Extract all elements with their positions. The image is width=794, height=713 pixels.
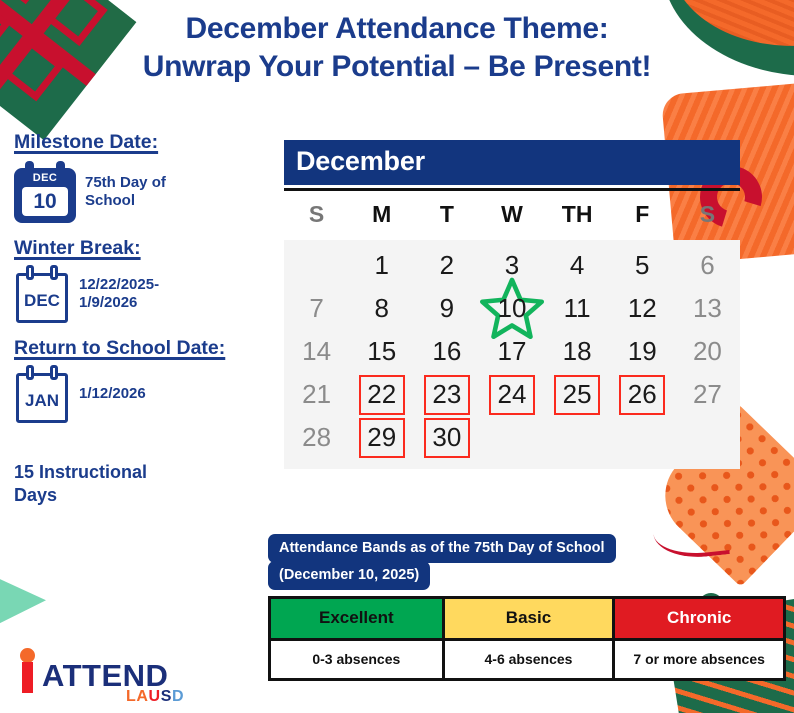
calendar-date-number: 30	[424, 418, 470, 458]
calendar-date-number: 10	[498, 293, 527, 324]
page-title-line-1: December Attendance Theme:	[186, 12, 609, 45]
sidebar: Milestone Date: DEC 10 75th Day of Schoo…	[14, 131, 276, 506]
logo-i-stem-icon	[22, 662, 33, 693]
milestone-date-text: 75th Day of School	[85, 174, 207, 210]
winter-break-text: 12/22/2025-1/9/2026	[79, 276, 215, 312]
calendar-date-cell[interactable]: 30	[414, 416, 479, 459]
milestone-date-row: DEC 10 75th Day of School	[14, 161, 276, 223]
calendar-icon-month-jan: JAN	[16, 391, 68, 411]
logo-lausd-letter: L	[126, 688, 136, 705]
calendar-date-cell[interactable]: 22	[349, 373, 414, 416]
logo-lausd-letter: D	[172, 688, 184, 705]
calendar-date-cell[interactable]: 19	[610, 330, 675, 373]
instructional-days-text: 15 Instructional Days	[14, 461, 184, 506]
calendar-day-header: W	[479, 201, 544, 228]
calendar-date-number: 20	[693, 336, 722, 367]
logo-i-dot-icon	[20, 648, 35, 663]
calendar-date-cell[interactable]: 5	[610, 244, 675, 287]
calendar-date-cell[interactable]: 12	[610, 287, 675, 330]
calendar-date-cell[interactable]: 21	[284, 373, 349, 416]
calendar-day-header: S	[675, 201, 740, 228]
attendance-band-value: 0-3 absences	[271, 641, 442, 678]
winter-break-heading: Winter Break:	[14, 237, 276, 260]
calendar-empty-cell	[479, 416, 544, 459]
calendar-date-cell[interactable]: 2	[414, 244, 479, 287]
logo-lausd-letter: A	[136, 688, 148, 705]
calendar-date-number: 25	[554, 375, 600, 415]
calendar-date-number: 27	[693, 379, 722, 410]
attendance-band-value: 7 or more absences	[612, 641, 783, 678]
calendar-date-cell[interactable]: 20	[675, 330, 740, 373]
december-calendar: December SMTWTHFS 1234567891011121314151…	[284, 140, 740, 469]
calendar-month-icon-dec: DEC	[14, 265, 70, 323]
calendar-icon-month: DEC	[14, 172, 76, 184]
calendar-date-cell[interactable]: 11	[545, 287, 610, 330]
calendar-date-cell[interactable]: 4	[545, 244, 610, 287]
calendar-empty-cell	[675, 416, 740, 459]
logo-lausd-letter: S	[161, 688, 172, 705]
calendar-date-number: 29	[359, 418, 405, 458]
calendar-date-cell[interactable]: 7	[284, 287, 349, 330]
calendar-empty-cell	[545, 416, 610, 459]
calendar-date-number: 23	[424, 375, 470, 415]
attendance-bands-banner: Attendance Bands as of the 75th Day of S…	[268, 534, 616, 590]
mint-triangle-decoration-left	[0, 558, 46, 646]
calendar-day-header: F	[610, 201, 675, 228]
calendar-date-cell[interactable]: 26	[610, 373, 675, 416]
page-title-line-2: Unwrap Your Potential – Be Present!	[0, 48, 794, 86]
attendance-bands-table: ExcellentBasicChronic0-3 absences4-6 abs…	[268, 596, 786, 681]
attendance-band-header: Excellent	[271, 599, 442, 641]
calendar-date-number: 9	[440, 293, 454, 324]
return-to-school-text: 1/12/2026	[79, 385, 146, 403]
calendar-day-header: TH	[545, 201, 610, 228]
calendar-date-number: 24	[489, 375, 535, 415]
calendar-date-number: 2	[440, 250, 454, 281]
page-title: December Attendance Theme: Unwrap Your P…	[0, 10, 794, 86]
attendance-band-header: Chronic	[612, 599, 783, 641]
calendar-date-number: 6	[700, 250, 714, 281]
calendar-date-cell[interactable]: 25	[545, 373, 610, 416]
calendar-date-number: 21	[302, 379, 331, 410]
calendar-day-header: T	[414, 201, 479, 228]
logo-lausd-letter: U	[149, 688, 161, 705]
calendar-date-number: 15	[367, 336, 396, 367]
winter-break-row: DEC 12/22/2025-1/9/2026	[14, 265, 276, 323]
calendar-day-header: M	[349, 201, 414, 228]
logo-lausd-wordmark: LAUSD	[126, 688, 184, 706]
calendar-day-headers: SMTWTHFS	[284, 191, 740, 240]
calendar-icon-day: 10	[22, 187, 68, 216]
calendar-grid: 1234567891011121314151617181920212223242…	[284, 240, 740, 469]
calendar-date-number: 14	[302, 336, 331, 367]
calendar-date-cell[interactable]: 10	[479, 287, 544, 330]
calendar-date-cell[interactable]: 13	[675, 287, 740, 330]
iattend-lausd-logo: ATTEND LAUSD	[16, 648, 216, 704]
poster-canvas: December Attendance Theme: Unwrap Your P…	[0, 0, 794, 713]
calendar-date-number: 3	[505, 250, 519, 281]
calendar-month-title: December	[284, 140, 740, 185]
calendar-date-cell[interactable]: 15	[349, 330, 414, 373]
calendar-date-number: 19	[628, 336, 657, 367]
calendar-date-number: 5	[635, 250, 649, 281]
return-to-school-row: JAN 1/12/2026	[14, 365, 276, 423]
calendar-date-cell[interactable]: 1	[349, 244, 414, 287]
attendance-bands-banner-line-2: (December 10, 2025)	[268, 561, 430, 590]
return-to-school-heading: Return to School Date:	[14, 337, 276, 360]
calendar-icon-month-dec: DEC	[16, 291, 68, 311]
calendar-date-number: 18	[563, 336, 592, 367]
calendar-date-number: 22	[359, 375, 405, 415]
calendar-date-cell[interactable]: 18	[545, 330, 610, 373]
calendar-date-cell[interactable]: 29	[349, 416, 414, 459]
calendar-date-number: 26	[619, 375, 665, 415]
calendar-date-cell[interactable]: 24	[479, 373, 544, 416]
attendance-bands-banner-line-1: Attendance Bands as of the 75th Day of S…	[268, 534, 616, 563]
calendar-date-cell[interactable]: 14	[284, 330, 349, 373]
calendar-date-cell[interactable]: 16	[414, 330, 479, 373]
calendar-month-icon-jan: JAN	[14, 365, 70, 423]
calendar-empty-cell	[284, 244, 349, 287]
calendar-day-header: S	[284, 201, 349, 228]
calendar-date-number: 28	[302, 422, 331, 453]
calendar-date-cell[interactable]: 27	[675, 373, 740, 416]
calendar-date-number: 7	[309, 293, 323, 324]
calendar-date-number: 8	[374, 293, 388, 324]
calendar-date-cell[interactable]: 9	[414, 287, 479, 330]
calendar-date-cell[interactable]: 23	[414, 373, 479, 416]
calendar-date-number: 16	[432, 336, 461, 367]
attendance-band-header: Basic	[442, 599, 613, 641]
calendar-date-number: 13	[693, 293, 722, 324]
calendar-date-number: 17	[498, 336, 527, 367]
calendar-date-cell[interactable]: 28	[284, 416, 349, 459]
calendar-date-number: 1	[374, 250, 388, 281]
calendar-date-number: 11	[564, 293, 591, 324]
calendar-date-number: 4	[570, 250, 584, 281]
milestone-date-heading: Milestone Date:	[14, 131, 276, 154]
calendar-date-number: 12	[628, 293, 657, 324]
calendar-day-icon: DEC 10	[14, 161, 76, 223]
calendar-empty-cell	[610, 416, 675, 459]
calendar-date-cell[interactable]: 8	[349, 287, 414, 330]
attendance-band-value: 4-6 absences	[442, 641, 613, 678]
calendar-date-cell[interactable]: 6	[675, 244, 740, 287]
